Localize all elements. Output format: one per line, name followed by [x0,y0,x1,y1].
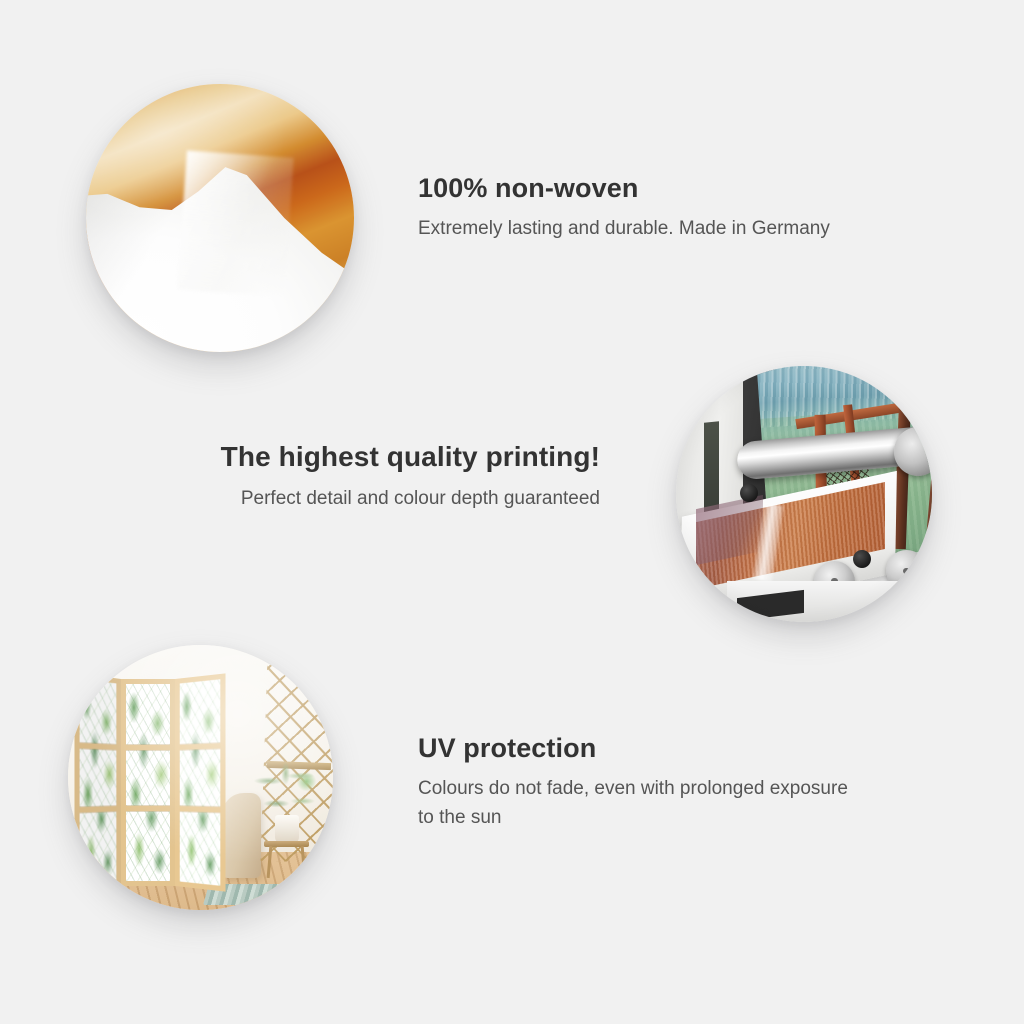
feature-title: 100% non-woven [418,172,858,204]
feature-image-uv-protection [68,645,333,910]
feature-title: The highest quality printing! [160,440,600,474]
feature-text-uv-protection: UV protection Colours do not fade, even … [418,732,848,832]
feature-title: UV protection [418,732,848,764]
room-light-bloom [68,645,333,910]
photo-vignette [676,366,932,622]
room-divider-photo [68,645,333,910]
feature-image-printing [676,366,932,622]
feature-text-printing: The highest quality printing! Perfect de… [160,440,600,513]
feature-text-non-woven: 100% non-woven Extremely lasting and dur… [418,172,858,243]
feature-description: Perfect detail and colour depth guarante… [160,484,600,513]
features-panel: 100% non-woven Extremely lasting and dur… [0,0,1024,1024]
surface-gloss [86,84,354,352]
peeling-wallpaper-corner-photo [86,84,354,352]
feature-image-non-woven [86,84,354,352]
printing-press-photo [676,366,932,622]
feature-description: Colours do not fade, even with prolonged… [418,774,848,832]
feature-description: Extremely lasting and durable. Made in G… [418,214,858,243]
